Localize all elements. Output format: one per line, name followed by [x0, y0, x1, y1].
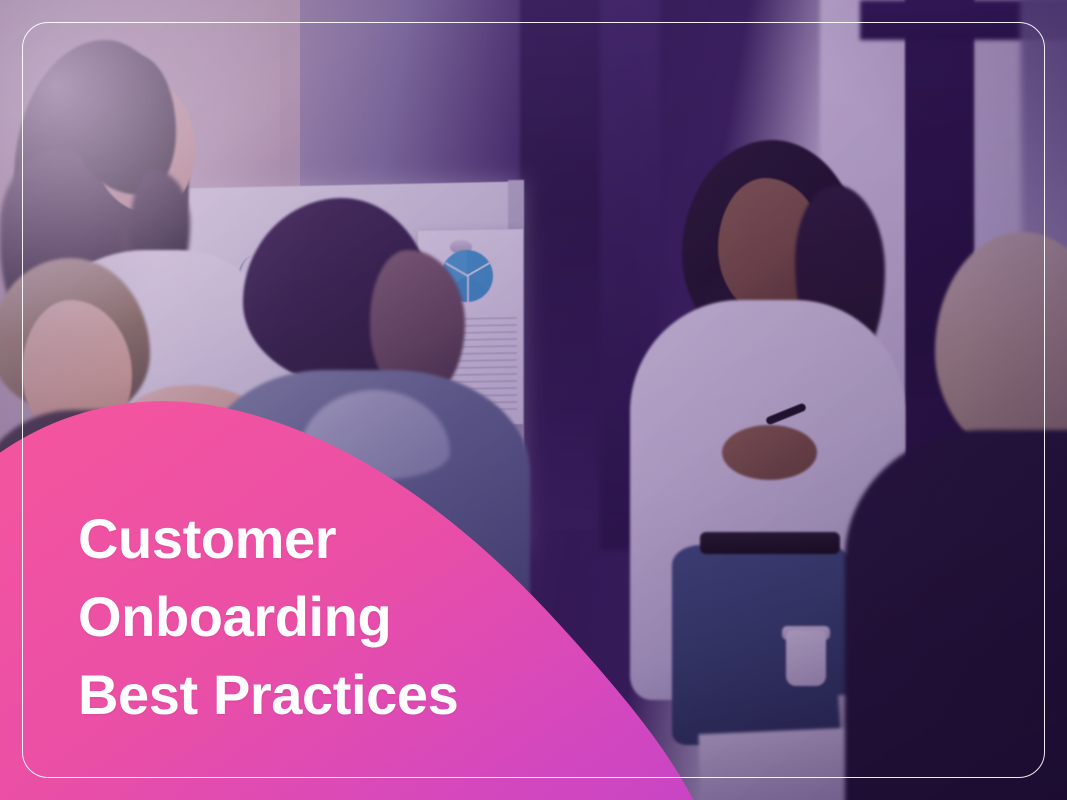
banner-canvas: Customer Onboarding Best Practices — [0, 0, 1067, 800]
title-line-3: Best Practices — [78, 656, 458, 734]
banner-title: Customer Onboarding Best Practices — [78, 500, 458, 734]
title-line-1: Customer — [78, 500, 458, 578]
title-line-2: Onboarding — [78, 578, 458, 656]
